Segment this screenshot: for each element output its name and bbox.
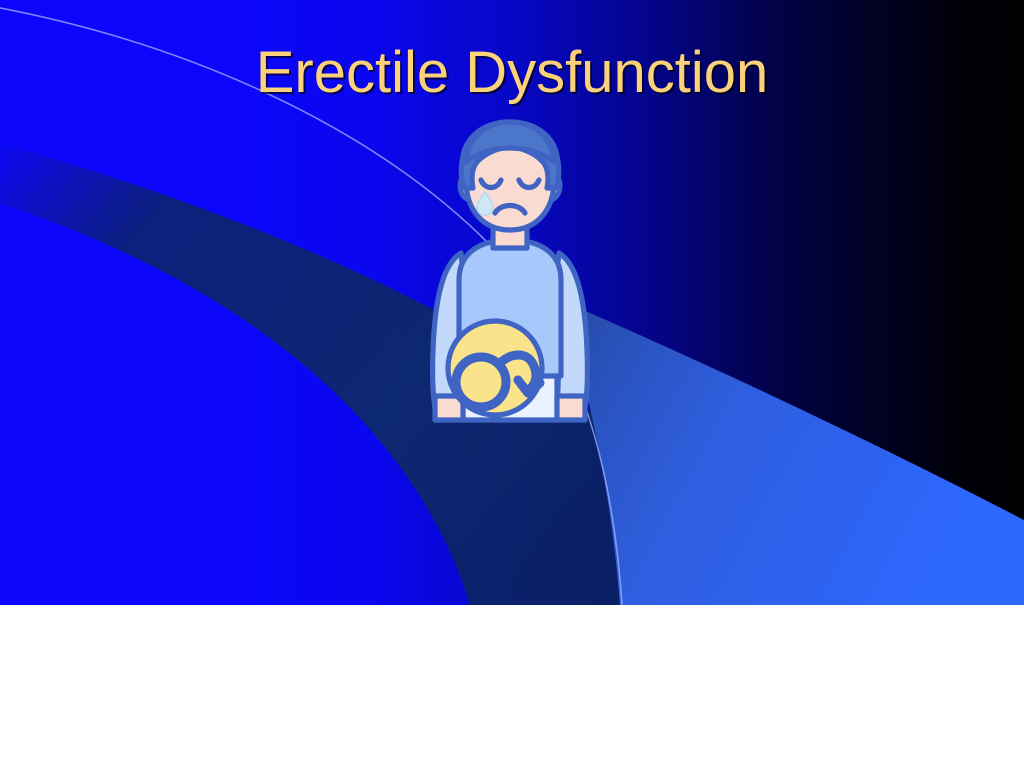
page-title: Erectile Dysfunction	[0, 43, 1024, 104]
slide-canvas: Erectile Dysfunction	[0, 0, 1024, 605]
slide-root: Erectile Dysfunction	[0, 0, 1024, 768]
page-white-area	[0, 605, 1024, 768]
right-hand	[557, 396, 585, 420]
sad-man-icon	[415, 118, 605, 433]
sad-man-illustration	[415, 118, 605, 433]
